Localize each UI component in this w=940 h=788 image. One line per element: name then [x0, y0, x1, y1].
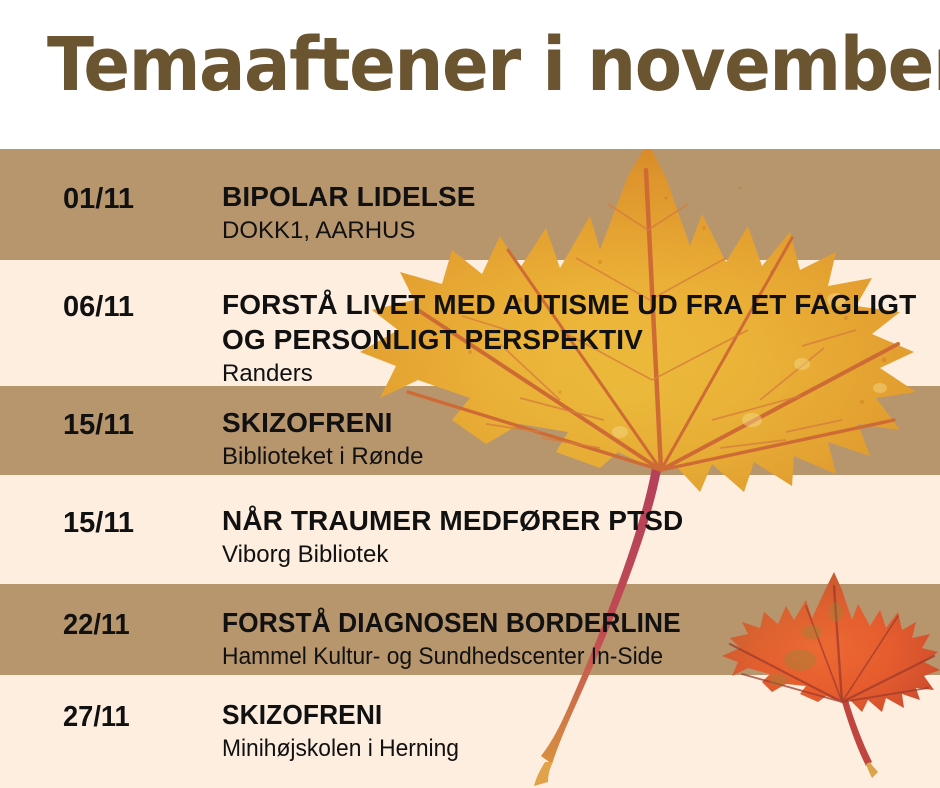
list-item: 15/11 SKIZOFRENI Biblioteket i Rønde [0, 386, 940, 475]
event-venue: Hammel Kultur- og Sundhedscenter In-Side [222, 640, 897, 672]
event-title: SKIZOFRENI [222, 697, 889, 732]
list-item: 22/11 FORSTÅ DIAGNOSEN BORDERLINE Hammel… [0, 584, 940, 675]
event-info: SKIZOFRENI Minihøjskolen i Herning [222, 697, 932, 764]
event-info: FORSTÅ LIVET MED AUTISME UD FRA ET FAGLI… [222, 287, 932, 389]
event-date: 06/11 [63, 290, 134, 324]
event-title: NÅR TRAUMER MEDFØRER PTSD [222, 503, 932, 538]
event-title: FORSTÅ DIAGNOSEN BORDERLINE [222, 605, 889, 640]
event-venue: Biblioteket i Rønde [222, 440, 932, 472]
event-info: SKIZOFRENI Biblioteket i Rønde [222, 405, 932, 472]
poster: Temaaftener i november 01/11 BIPOLAR LID… [0, 0, 940, 788]
event-date: 22/11 [63, 608, 130, 642]
event-date: 27/11 [63, 700, 130, 734]
event-title: FORSTÅ LIVET MED AUTISME UD FRA ET FAGLI… [222, 287, 932, 357]
event-venue: Minihøjskolen i Herning [222, 732, 897, 764]
event-info: BIPOLAR LIDELSE DOKK1, AARHUS [222, 179, 932, 246]
event-title: SKIZOFRENI [222, 405, 932, 440]
event-info: FORSTÅ DIAGNOSEN BORDERLINE Hammel Kultu… [222, 605, 932, 672]
event-info: NÅR TRAUMER MEDFØRER PTSD Viborg Bibliot… [222, 503, 932, 570]
event-venue: DOKK1, AARHUS [222, 214, 932, 246]
event-date: 15/11 [63, 506, 134, 540]
event-venue: Viborg Bibliotek [222, 538, 932, 570]
event-date: 01/11 [63, 182, 134, 216]
list-item: 01/11 BIPOLAR LIDELSE DOKK1, AARHUS [0, 149, 940, 260]
event-title: BIPOLAR LIDELSE [222, 179, 932, 214]
title-bar: Temaaftener i november [0, 0, 940, 149]
event-venue: Randers [222, 357, 932, 389]
list-item: 27/11 SKIZOFRENI Minihøjskolen i Herning [0, 675, 940, 788]
list-item: 06/11 FORSTÅ LIVET MED AUTISME UD FRA ET… [0, 260, 940, 386]
list-item: 15/11 NÅR TRAUMER MEDFØRER PTSD Viborg B… [0, 475, 940, 584]
page-title: Temaaftener i november [47, 22, 940, 108]
event-date: 15/11 [63, 408, 134, 442]
